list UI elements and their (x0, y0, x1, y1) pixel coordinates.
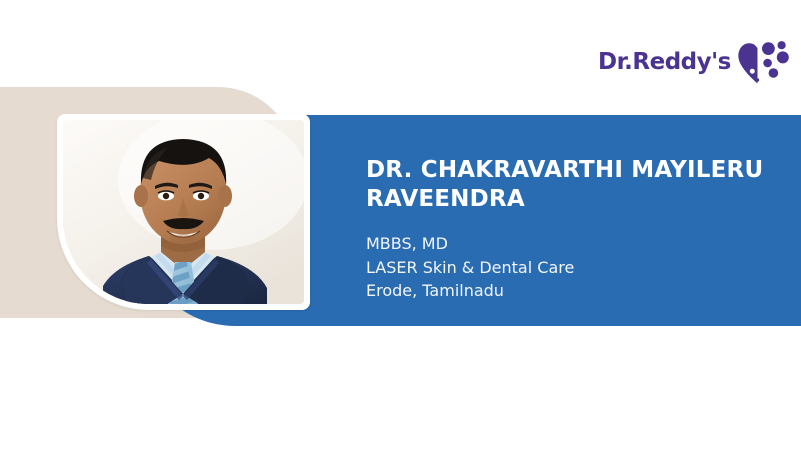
dr-reddys-heart-dots-logo-icon (737, 39, 789, 85)
brand-wordmark: Dr.Reddy's (598, 51, 731, 74)
brand-logo: Dr.Reddy's (598, 38, 758, 86)
doctor-location: Erode, Tamilnadu (366, 279, 786, 303)
doctor-qualification: MBBS, MD (366, 232, 786, 256)
doctor-clinic: LASER Skin & Dental Care (366, 256, 786, 280)
doctor-name: DR. CHAKRAVARTHI MAYILERU RAVEENDRA (366, 156, 786, 214)
doctor-photo-card (57, 114, 310, 310)
doctor-photo (63, 120, 304, 304)
slide-canvas: Dr.Reddy's (0, 0, 801, 450)
doctor-details-list: MBBS, MD LASER Skin & Dental Care Erode,… (366, 232, 786, 303)
doctor-info-block: DR. CHAKRAVARTHI MAYILERU RAVEENDRA MBBS… (366, 156, 786, 303)
doctor-portrait-illustration (63, 120, 304, 304)
